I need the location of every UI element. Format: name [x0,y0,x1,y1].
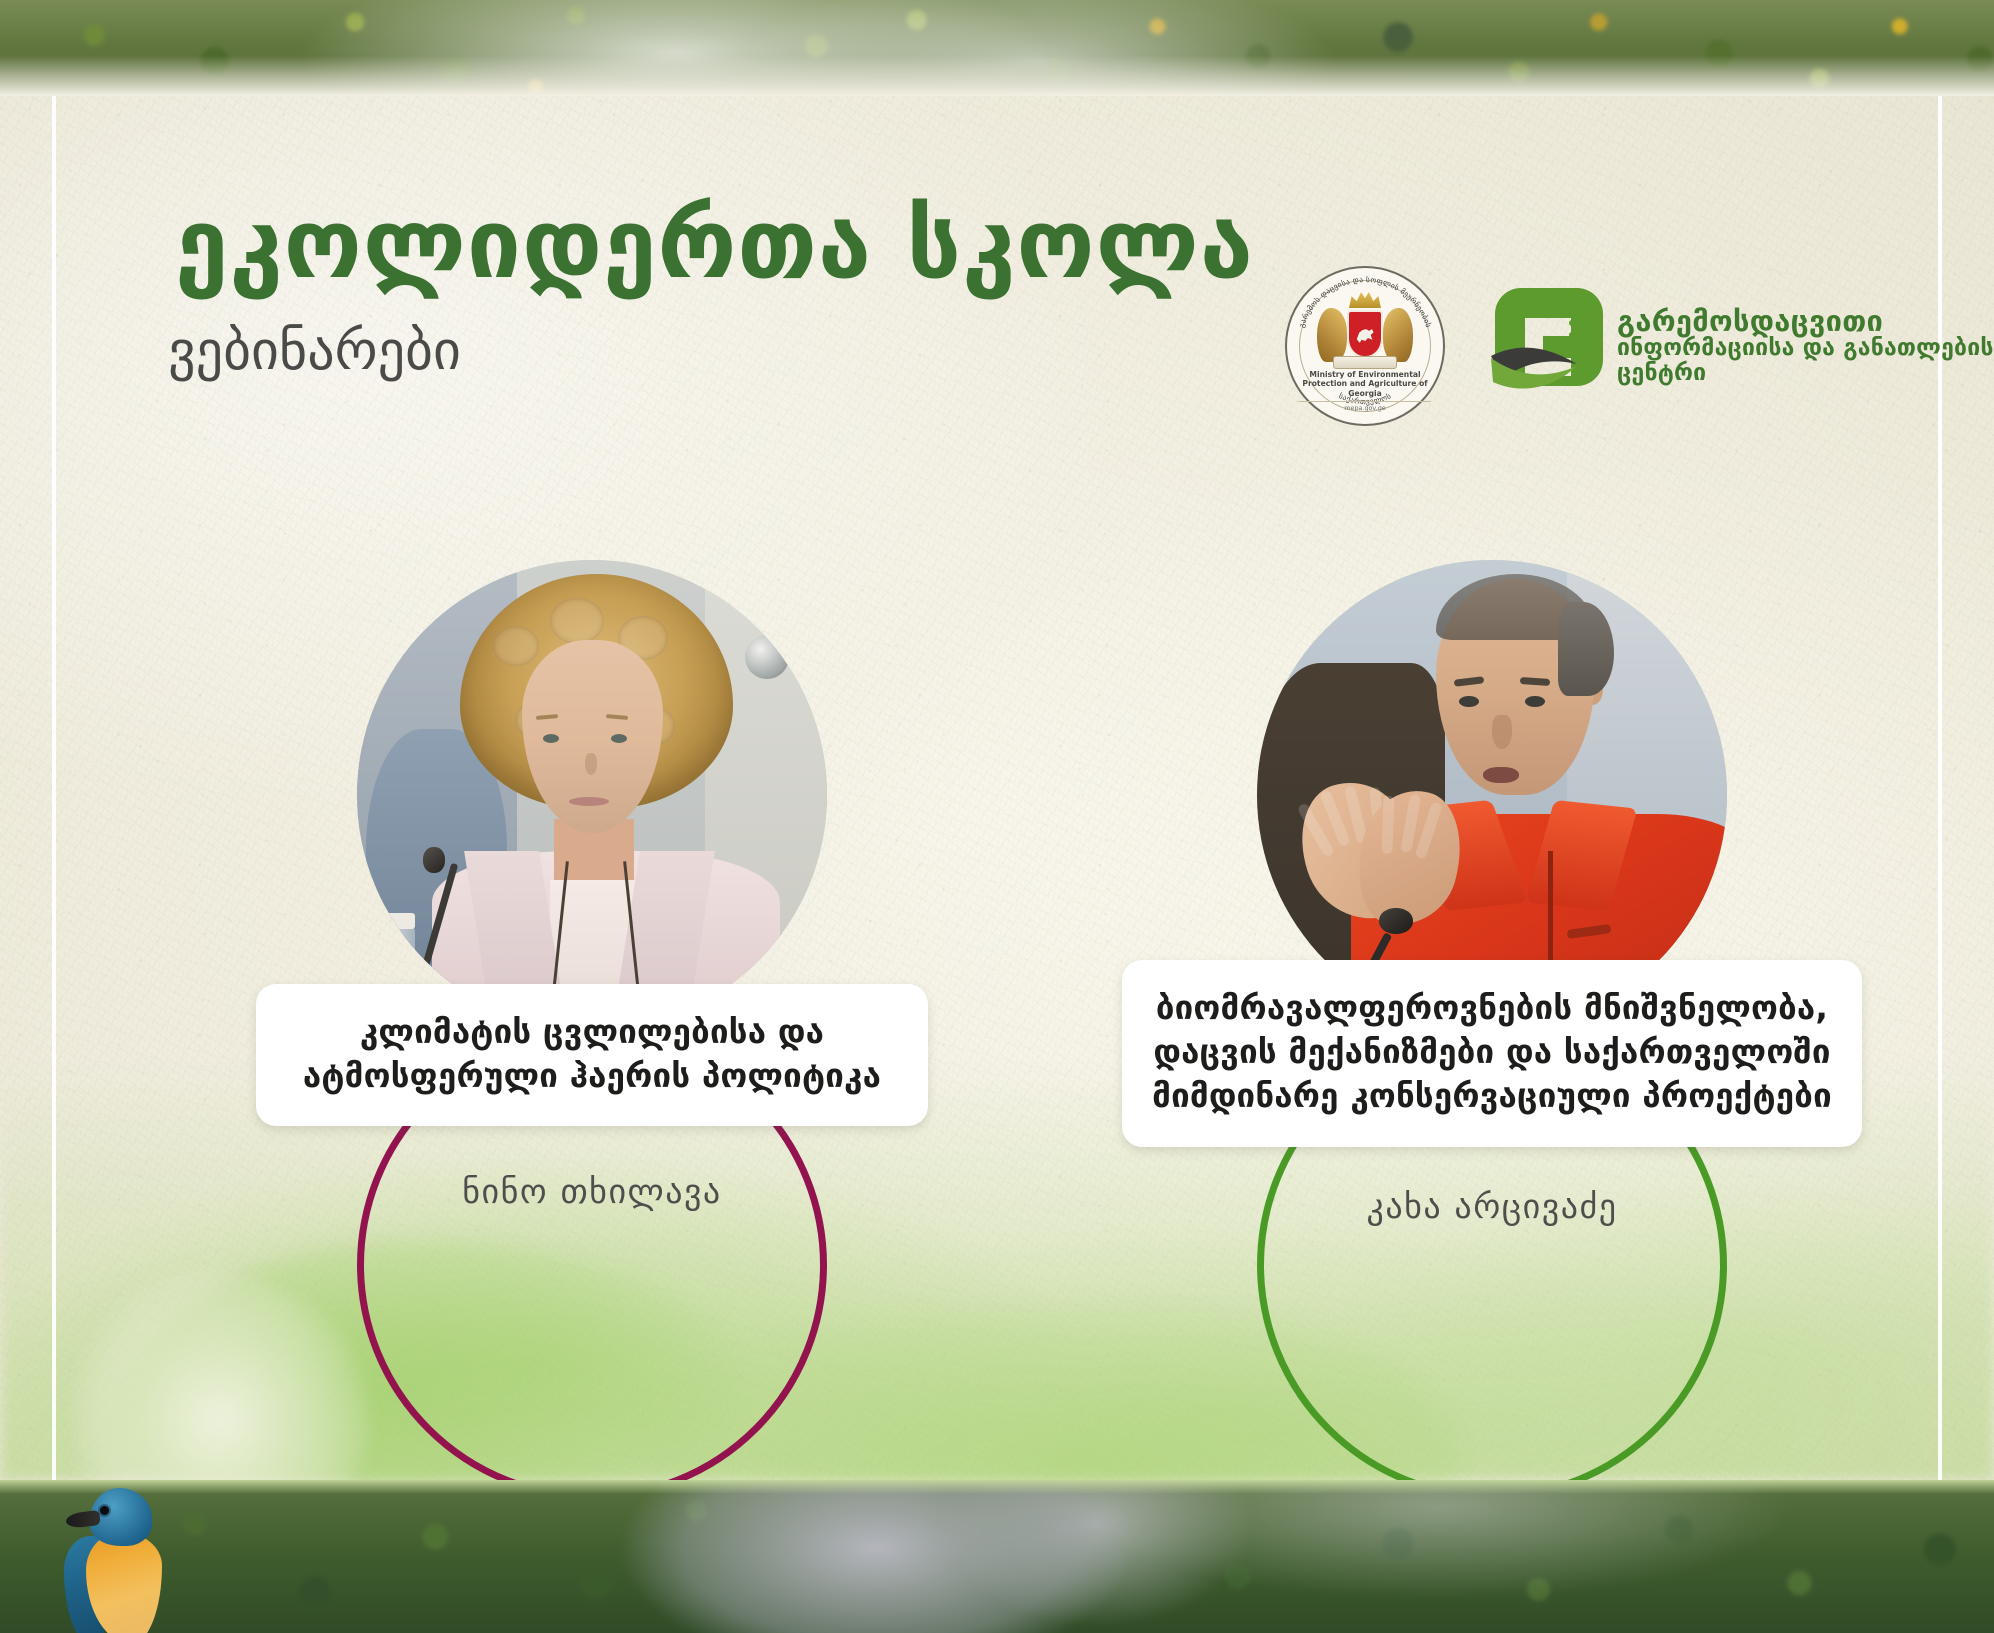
photo-eye-right [611,734,627,743]
page-subtitle: ვებინარები [168,324,461,378]
bird-breast [86,1532,162,1633]
education-center-wordmark: გარემოსდაცვითი ინფორმაციისა და განათლები… [1617,306,1994,386]
photo-mouth [1483,767,1519,783]
top-banner-fade [0,0,1994,96]
logo-group: გარემოს დაცვისა და სოფლის მეურნეობის საქ… [1285,266,1994,426]
photo-woman-illustration [357,560,827,1030]
ministry-label: Ministry of Environmental Protection and… [1299,370,1431,398]
poster: ეკოლიდერთა სკოლა ვებინარები გარემოს დაცვ… [0,0,1994,1633]
bird-illustration [60,1488,190,1633]
education-center-line2: ინფორმაციისა და განათლების [1617,337,1994,361]
education-center-mark-icon [1481,284,1605,408]
bottom-photo-banner [0,1480,1994,1633]
bottom-banner-image [0,1480,1994,1633]
photo-nose [1492,715,1512,749]
photo-nose [585,753,597,775]
book-leaf-mark-svg [1481,284,1605,408]
education-center-line3: ცენტრი [1617,362,1994,386]
page-title: ეკოლიდერთა სკოლა [175,196,1254,292]
crown-icon [1349,290,1381,308]
shield-icon [1347,310,1383,358]
lion-supporter-right-icon [1383,308,1413,362]
photo-microphone-head [423,847,445,873]
topic-line: დაცვის მექანიზმები და საქართველოში [1148,1030,1836,1074]
speaker-card-right: ბიომრავალფეროვნების მნიშვნელობა, დაცვის … [1122,560,1862,1227]
coat-of-arms [1311,290,1419,376]
education-center-logo: გარემოსდაცვითი ინფორმაციისა და განათლები… [1481,284,1994,408]
header: ეკოლიდერთა სკოლა ვებინარები გარემოს დაცვ… [0,96,1994,396]
photo-water-bottle-cap [385,913,415,929]
top-photo-banner [0,0,1994,96]
portrait-frame-left [357,560,827,1030]
topic-card-left: კლიმატის ცვლილებისა და ატმოსფერული ჰაერი… [256,984,928,1126]
topic-card-right: ბიომრავალფეროვნების მნიშვნელობა, დაცვის … [1122,960,1862,1147]
topic-line: კლიმატის ცვლილებისა და [282,1010,902,1054]
education-center-line1: გარემოსდაცვითი [1617,306,1994,336]
speaker-card-left: კლიმატის ცვლილებისა და ატმოსფერული ჰაერი… [242,560,942,1212]
topic-line: ბიომრავალფეროვნების მნიშვნელობა, [1148,986,1836,1030]
ministry-url: mepa.gov.ge [1299,401,1431,412]
photo-eye-left [543,734,559,743]
saint-george-rider-icon [1355,323,1375,345]
speaker-name-left: ნინო თხილავა [242,1172,942,1212]
topic-line: ატმოსფერული ჰაერის პოლიტიკა [282,1054,902,1098]
lion-supporter-left-icon [1317,308,1347,362]
speaker-name-right: კახა არცივაძე [1122,1187,1862,1227]
bottom-banner-fade [0,1480,1994,1494]
ministry-seal-logo: გარემოს დაცვისა და სოფლის მეურნეობის საქ… [1285,266,1445,426]
photo-microphone-head [1379,908,1413,934]
speaker-photo-left [357,560,827,1030]
topic-line: მიმდინარე კონსერვაციული პროექტები [1148,1074,1836,1118]
photo-brow-right [1520,676,1550,685]
motto-ribbon [1333,356,1397,369]
bird-eye [100,1506,109,1515]
